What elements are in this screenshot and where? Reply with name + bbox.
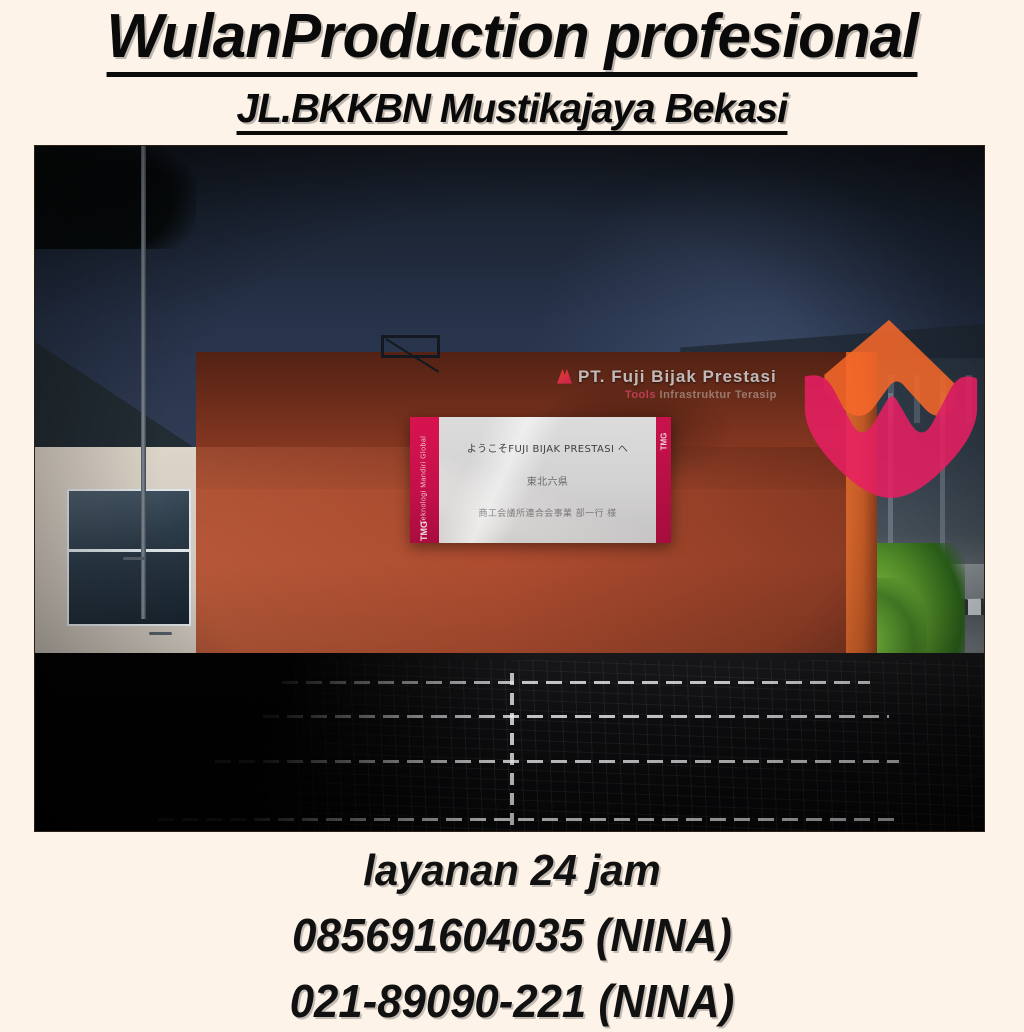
lamp-bracket-lower [149, 632, 172, 635]
mobile-phone: 085691604035 (NINA) [26, 904, 999, 966]
banner-sheet: ようこそFUJI BIJAK PRESTASI へ 東北六県 商工会議所連合会事… [439, 417, 657, 544]
banner-strip-logo: TMG [419, 521, 429, 541]
banner-strip-text: Teknologi Mandiri Global [421, 436, 428, 525]
welcome-banner: Teknologi Mandiri Global TMG ようこそFUJI BI… [410, 417, 671, 544]
wulan-production-logo [791, 314, 985, 500]
company-tagline-highlight: Tools [625, 389, 656, 401]
banner-line-3: 商工会議所連合会事業 部一行 様 [478, 506, 616, 519]
banner-right-strip: TMG [656, 417, 670, 544]
footer-contact: layanan 24 jam 085691604035 (NINA) 021-8… [0, 842, 1024, 1032]
banner-line-1: ようこそFUJI BIJAK PRESTASI へ [467, 440, 629, 455]
banner-left-strip: Teknologi Mandiri Global TMG [410, 417, 439, 544]
fuji-logo-icon [557, 369, 572, 384]
company-tagline-rest: Infrastruktur Terasip [660, 389, 777, 401]
service-hours: layanan 24 jam [26, 842, 999, 900]
lamp-post [141, 146, 146, 619]
company-name: PT. Fuji Bijak Prestasi [578, 367, 777, 386]
ground-shadow [35, 653, 623, 831]
page-subtitle: JL.BKKBN Mustikajaya Bekasi [237, 85, 788, 135]
window-mullion [69, 549, 188, 552]
banner-right-strip-logo: TMG [659, 432, 668, 450]
landline-phone: 021-89090-221 (NINA) [26, 970, 999, 1032]
header: WulanProduction profesional JL.BKKBN Mus… [0, 0, 1024, 135]
banner-line-2: 東北六県 [527, 473, 569, 488]
dark-tree-foliage-2 [73, 146, 196, 221]
scaffold-frame [381, 335, 440, 358]
poster-canvas: WulanProduction profesional JL.BKKBN Mus… [0, 0, 1024, 1024]
lamp-bracket-upper [123, 557, 146, 560]
event-photo: PT. Fuji Bijak Prestasi Tools Infrastruk… [34, 145, 985, 832]
page-title: WulanProduction profesional [106, 2, 917, 77]
